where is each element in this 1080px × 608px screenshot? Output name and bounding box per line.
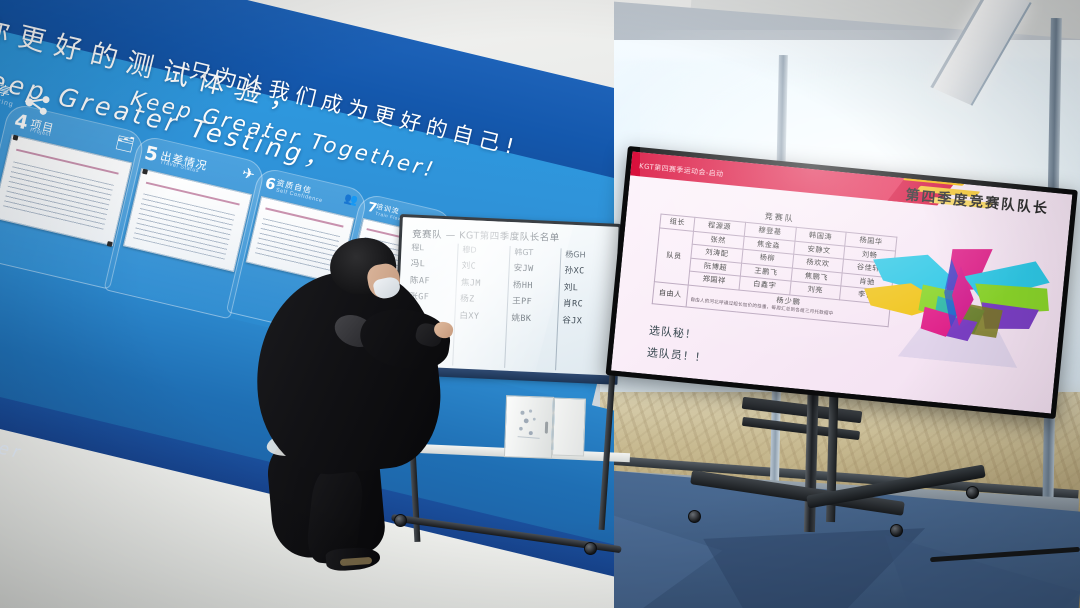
whiteboard-name: 安JW <box>513 262 560 275</box>
wall-display[interactable]: KGT第四赛季运动会-启动 第四季度竞赛队队长 竞赛队 组长 程源源 穆登基 韩… <box>606 146 1078 419</box>
teamwork-hands-icon <box>854 227 1058 395</box>
whiteboard-column: 穆D 刘C 焦JM 杨Z 白XY <box>453 244 510 368</box>
whiteboard-column: 韩GT 安JW 杨HH 王PF 姚BK <box>505 246 562 370</box>
tv-stand-caster <box>966 486 979 499</box>
wall-poster <box>123 168 252 272</box>
whiteboard-column: 杨GH 孙XC 刘L 肖RC 谷JX <box>556 248 612 372</box>
row-label-free-agent: 自由人 <box>652 281 688 307</box>
whiteboard-name: 孙XC <box>564 264 611 277</box>
whiteboard-name: 刘C <box>462 259 509 272</box>
whiteboard-column-header: 杨GH <box>565 249 612 261</box>
slide-note-2: 选队员！！ <box>646 344 707 366</box>
whiteboard-name: 刘L <box>563 280 610 293</box>
whiteboard-name: 谷JX <box>562 313 609 326</box>
whiteboard-name: 肖RC <box>563 297 610 310</box>
folder-icon: 🗂 <box>114 134 136 153</box>
row-label-members: 队员 <box>654 227 693 284</box>
person-writing-on-whiteboard <box>248 238 438 578</box>
whiteboard-leg <box>598 372 615 530</box>
panel-number: 4 <box>12 110 30 134</box>
panel-number: 5 <box>142 142 160 166</box>
people-icon: 👥 <box>343 193 359 207</box>
room-photo-scene: 你更好的测试体验， Keep Greater Testing， Keep Gre… <box>0 0 1080 608</box>
whiteboard-name: 王PF <box>512 294 559 307</box>
whiteboard-column-header: 穆D <box>463 244 510 256</box>
whiteboard-name: 姚BK <box>511 311 558 324</box>
airplane-icon: ✈ <box>241 166 257 183</box>
teamwork-hands-svg <box>854 227 1058 395</box>
whiteboard-name: 杨HH <box>512 278 559 291</box>
whiteboard-column-header: 韩GT <box>514 247 561 259</box>
slide-note-1: 选队秘！ <box>648 322 697 343</box>
display-screen[interactable]: KGT第四赛季运动会-启动 第四季度竞赛队队长 竞赛队 组长 程源源 穆登基 韩… <box>611 151 1072 413</box>
tv-stand-caster <box>688 510 701 523</box>
whiteboard-name: 白XY <box>460 309 507 322</box>
wall-poster <box>0 134 132 246</box>
whiteboard-name: 杨Z <box>460 292 507 305</box>
whiteboard-caster <box>584 542 597 555</box>
whiteboard-name: 焦JM <box>461 276 508 289</box>
tv-stand-caster <box>890 524 903 537</box>
